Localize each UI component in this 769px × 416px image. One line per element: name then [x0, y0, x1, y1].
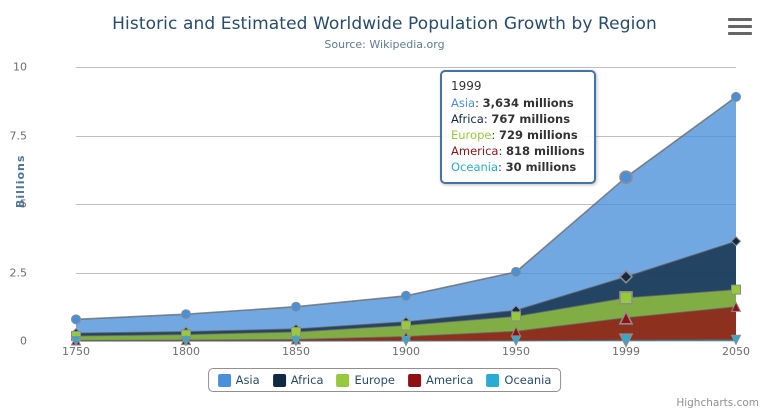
chart-subtitle: Source: Wikipedia.org [0, 38, 769, 51]
menu-bar-3 [728, 32, 752, 35]
tooltip-row-asia: Asia: 3,634 millions [451, 95, 585, 111]
series-layer [76, 67, 736, 341]
legend-item-africa[interactable]: Africa [273, 373, 324, 387]
tooltip-row-europe: Europe: 729 millions [451, 127, 585, 143]
data-point-europe-1900[interactable] [402, 321, 411, 330]
legend-swatch-icon [273, 374, 286, 387]
tooltip: 1999 Asia: 3,634 millionsAfrica: 767 mil… [440, 70, 596, 184]
legend-swatch-icon [337, 374, 350, 387]
y-axis-tick-label: 5 [0, 198, 27, 211]
tooltip-row-africa: Africa: 767 millions [451, 111, 585, 127]
tooltip-series-value: 30 millions [506, 160, 577, 174]
data-point-asia-1800[interactable] [182, 310, 191, 319]
data-point-asia-1999[interactable] [620, 171, 632, 183]
tooltip-separator: : [498, 160, 506, 174]
data-point-europe-2050[interactable] [732, 285, 741, 294]
tooltip-series-value: 818 millions [506, 144, 585, 158]
x-axis-tick-label: 1850 [282, 345, 310, 358]
tooltip-separator: : [491, 128, 499, 142]
x-axis-tick-label: 1950 [502, 345, 530, 358]
legend-swatch-icon [486, 374, 499, 387]
tooltip-header: 1999 [451, 78, 585, 95]
y-axis-tick-label: 0 [0, 335, 27, 348]
tooltip-series-name: Africa [451, 112, 484, 126]
tooltip-row-oceania: Oceania: 30 millions [451, 159, 585, 175]
legend-item-asia[interactable]: Asia [218, 373, 260, 387]
x-axis-tick-label: 2050 [722, 345, 750, 358]
tooltip-series-name: Europe [451, 128, 491, 142]
tooltip-rows: Asia: 3,634 millionsAfrica: 767 millions… [451, 95, 585, 175]
data-point-europe-1999[interactable] [620, 292, 632, 304]
tooltip-row-america: America: 818 millions [451, 143, 585, 159]
y-axis-tick-label: 10 [0, 61, 27, 74]
data-point-asia-1950[interactable] [512, 267, 521, 276]
data-point-asia-1850[interactable] [292, 302, 301, 311]
tooltip-separator: : [475, 96, 483, 110]
legend-label: Asia [236, 373, 260, 387]
y-axis-tick-label: 7.5 [0, 129, 27, 142]
legend-label: America [426, 373, 473, 387]
legend-label: Africa [291, 373, 324, 387]
tooltip-series-value: 767 millions [491, 112, 570, 126]
y-axis-tick-label: 2.5 [0, 266, 27, 279]
data-point-asia-1750[interactable] [72, 315, 81, 324]
tooltip-series-value: 3,634 millions [483, 96, 574, 110]
plot-area [76, 67, 736, 341]
menu-bar-2 [728, 25, 752, 28]
tooltip-series-name: Asia [451, 96, 475, 110]
legend[interactable]: AsiaAfricaEuropeAmericaOceania [208, 368, 562, 392]
tooltip-separator: : [498, 144, 506, 158]
tooltip-series-name: Oceania [451, 160, 498, 174]
legend-item-oceania[interactable]: Oceania [486, 373, 551, 387]
highcharts-container: Historic and Estimated Worldwide Populat… [0, 0, 769, 416]
tooltip-series-value: 729 millions [499, 128, 578, 142]
legend-item-europe[interactable]: Europe [337, 373, 395, 387]
data-point-asia-2050[interactable] [732, 92, 741, 101]
data-point-asia-1900[interactable] [402, 291, 411, 300]
legend-label: Europe [355, 373, 395, 387]
x-axis-tick-label: 1800 [172, 345, 200, 358]
legend-swatch-icon [408, 374, 421, 387]
legend-label: Oceania [504, 373, 551, 387]
legend-swatch-icon [218, 374, 231, 387]
hamburger-menu-icon[interactable] [728, 18, 752, 38]
menu-bar-1 [728, 18, 752, 21]
legend-item-america[interactable]: America [408, 373, 473, 387]
x-axis-tick-label: 1900 [392, 345, 420, 358]
page-title: Historic and Estimated Worldwide Populat… [0, 14, 769, 34]
x-axis-tick-label: 1750 [62, 345, 90, 358]
credits-label[interactable]: Highcharts.com [676, 397, 759, 409]
data-point-europe-1950[interactable] [512, 312, 521, 321]
tooltip-series-name: America [451, 144, 498, 158]
